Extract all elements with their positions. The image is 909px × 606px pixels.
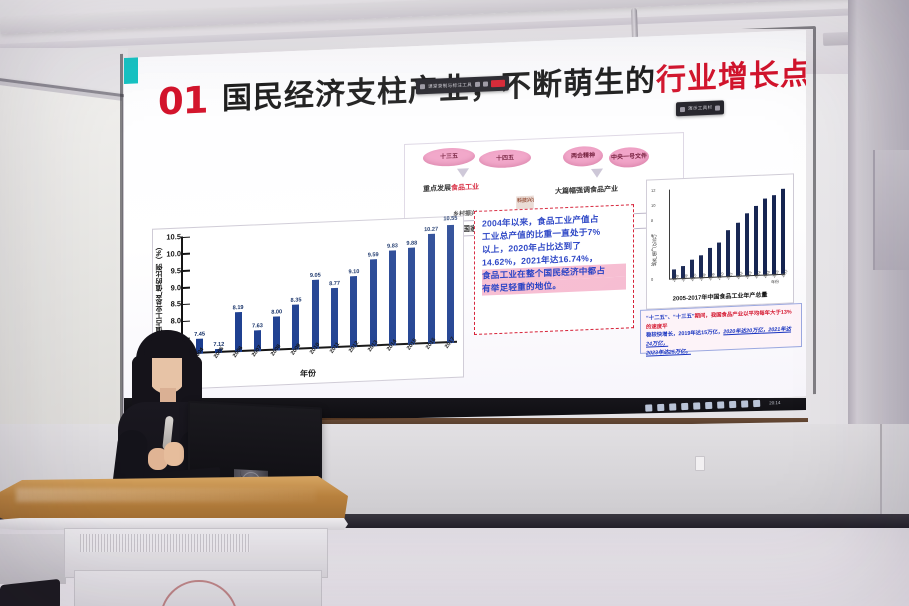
slide-number: 01 <box>158 78 208 123</box>
left-chart-value-label: 9.88 <box>406 240 417 246</box>
left-chart-bar <box>350 276 357 347</box>
left-chart-bar-column: 9.102012 <box>349 229 358 347</box>
left-chart-ytick: 10.5 <box>149 232 181 242</box>
left-chart-bar <box>312 280 319 349</box>
right-chart-bar-column: 2010 <box>717 187 721 276</box>
right-chart-title: 2005-2017年中国食品工业年产总量 <box>647 288 793 303</box>
left-chart-bar-column: 10.272016 <box>427 226 436 344</box>
diagram-ellipse-1: 十三五 <box>423 147 475 167</box>
right-chart-xlabel: 年份 <box>771 279 779 285</box>
mail-icon[interactable] <box>705 402 712 409</box>
right-chart-ytick: 2 <box>651 262 653 267</box>
wall-cabinet-panel <box>760 424 882 516</box>
whiteboard-surface-upper <box>0 85 122 451</box>
right-chart-bar-column: 2014 <box>754 186 758 275</box>
right-chart-bar <box>781 189 785 274</box>
growth-note: “十二五”、“十三五”期间，我国食品产业以平均每年大于13%的速度平 稳较快增长… <box>640 303 802 354</box>
toolbar-close-icon[interactable] <box>715 105 720 110</box>
left-chart-plot: 10.510.09.59.08.58.07.57.0 7.4520047.122… <box>193 225 457 354</box>
statistics-callout: 2004年以来，食品工业产值占 工业总产值的比重一直处于7% 以上，2020年占… <box>474 204 634 335</box>
right-chart-bar-column: 2015 <box>763 185 767 274</box>
right-chart-bar <box>754 206 758 275</box>
left-chart-bar <box>331 288 338 348</box>
app-icon[interactable] <box>717 401 724 408</box>
right-wall-edge <box>848 0 857 470</box>
growth-note-red-1: 期间，我国食品产业以 <box>695 311 749 319</box>
right-chart-bar-column: 2009 <box>708 188 712 277</box>
toolbar-camera-icon[interactable] <box>483 81 488 86</box>
record-button[interactable] <box>491 80 505 88</box>
right-chart-bar <box>763 199 767 275</box>
right-chart-bar <box>726 230 730 276</box>
left-chart-bar-column: 8.772011 <box>330 230 339 348</box>
right-chart-bars: 2005200620072008200920102011201220132014… <box>672 185 785 279</box>
browser-icon[interactable] <box>693 402 700 409</box>
powerpoint-icon[interactable] <box>681 403 688 410</box>
left-chart-value-label: 7.63 <box>252 323 263 329</box>
start-icon[interactable] <box>645 404 652 411</box>
diagram-label-right: 大篇幅强调食品产业 <box>555 184 618 197</box>
toolbar-pen-icon[interactable] <box>420 84 425 89</box>
left-chart-value-label: 8.19 <box>233 305 244 311</box>
diagram-arrow-left-icon <box>457 168 469 178</box>
right-chart-bar-column: 2017 <box>781 185 785 274</box>
app-icon[interactable] <box>729 401 736 408</box>
lecture-hall-scene: 01 国民经济支柱产业，不断萌生的行业增长点 课堂录制与标注工具 演示工具栏 十… <box>0 0 909 606</box>
left-chart-ytick: 10.0 <box>149 249 181 259</box>
left-chart-value-label: 9.83 <box>387 243 398 249</box>
slide-title-accent: 行业增长点 <box>656 58 806 98</box>
right-chart-bar-column: 2005 <box>672 189 676 278</box>
right-chart-ytick: 6 <box>651 232 653 237</box>
left-chart-bars: 7.4520047.1220058.1920067.6320078.002008… <box>193 225 457 354</box>
toolbar-slides-icon[interactable] <box>680 106 685 111</box>
diagram-ellipse-2: 十四五 <box>479 149 531 169</box>
right-chart-ytick: 4 <box>651 247 653 252</box>
right-wall-panel <box>873 150 909 270</box>
left-chart-value-label: 9.05 <box>310 272 321 278</box>
taskbar-clock[interactable]: 20:14 <box>769 400 780 405</box>
left-chart-ytick: 9.5 <box>149 266 181 276</box>
lectern-vent <box>80 534 250 552</box>
right-bar-chart: 总产值（亿元） 121086420 2005200620072008200920… <box>646 173 794 309</box>
app-icon[interactable] <box>741 400 748 407</box>
left-chart-bar <box>370 259 377 347</box>
left-chart-bar <box>408 247 415 344</box>
left-chart-bar-column: 9.052010 <box>311 231 320 349</box>
left-chart-value-label: 8.35 <box>291 297 302 303</box>
right-chart-bar-column: 2013 <box>745 186 749 275</box>
left-chart-bar-column: 9.832014 <box>388 227 397 345</box>
left-chart-bar <box>428 233 435 344</box>
lectern-side-panel <box>0 534 66 584</box>
left-chart-bar-column: 9.592013 <box>369 228 378 346</box>
right-chart-bar-column: 2012 <box>736 187 740 276</box>
left-chart-ytick: 8.5 <box>149 299 181 309</box>
right-chart-plot: 121086420 200520062007200820092010201120… <box>669 185 785 280</box>
taskbar-icon-group[interactable]: 20:14 <box>645 399 780 412</box>
presenter-hand-right <box>164 442 184 466</box>
right-chart-bar <box>772 195 776 274</box>
wall-cabinet-panel <box>520 424 642 516</box>
left-chart-bar-column: 8.352009 <box>291 231 300 349</box>
explorer-icon[interactable] <box>669 403 676 410</box>
left-chart-value-label: 8.00 <box>271 310 282 316</box>
diagram-ellipse-3: 两会精神 <box>563 146 603 168</box>
presentation-toolbar-label: 演示工具栏 <box>688 105 712 112</box>
tray-icon[interactable] <box>753 400 760 407</box>
right-chart-ytick: 8 <box>651 218 653 223</box>
left-chart-bar-column: 10.552017 <box>446 225 455 343</box>
left-chart-bar <box>447 225 454 343</box>
right-chart-ytick: 0 <box>651 277 653 282</box>
diagram-label-left-accent: 食品工业 <box>451 184 479 192</box>
left-chart-value-label: 8.77 <box>329 281 340 287</box>
left-chart-value-label: 10.27 <box>424 226 438 233</box>
left-chart-value-label: 9.59 <box>368 252 379 258</box>
diagram-ellipse-4: 中央一号文件 <box>609 147 649 169</box>
diagram-arrow-right-icon <box>591 169 603 179</box>
wall-cabinet-panel <box>396 424 522 516</box>
power-outlet <box>695 456 705 471</box>
search-icon[interactable] <box>657 404 664 411</box>
right-chart-bar-column: 2016 <box>772 185 776 274</box>
right-chart-bar-column: 2006 <box>681 189 685 278</box>
right-chart-bar-column: 2008 <box>699 188 703 277</box>
left-chart-ytick: 8.0 <box>149 316 181 326</box>
left-chart-bar-column: 8.002008 <box>272 232 281 350</box>
toolbar-grid-icon[interactable] <box>475 82 480 87</box>
left-chart-bar-column: 7.632007 <box>253 233 262 351</box>
diagram-arrow-label: 科技兴农 <box>517 198 537 204</box>
left-chart-value-label: 10.55 <box>443 216 457 223</box>
presenter-fringe <box>144 338 190 358</box>
recording-toolbar-label: 课堂录制与标注工具 <box>428 82 472 90</box>
left-chart-bar-column: 9.882015 <box>407 226 416 344</box>
right-chart-bar <box>745 213 749 275</box>
lectern <box>0 470 350 606</box>
lectern-top-highlight <box>16 488 316 502</box>
right-chart-ytick: 12 <box>651 188 655 193</box>
diagram-label-left: 重点发展食品工业 <box>423 182 479 194</box>
left-chart-bar-column: 8.192006 <box>234 234 243 352</box>
left-chart-bar <box>389 250 396 346</box>
right-chart-ytick: 10 <box>651 203 655 208</box>
presentation-toolbar[interactable]: 演示工具栏 <box>676 100 724 116</box>
left-chart-ytick: 9.0 <box>149 283 181 293</box>
right-chart-bar <box>736 222 740 276</box>
right-chart-bar-column: 2007 <box>690 189 694 278</box>
left-chart-value-label: 9.10 <box>348 269 359 275</box>
right-chart-bar-column: 2011 <box>726 187 730 276</box>
